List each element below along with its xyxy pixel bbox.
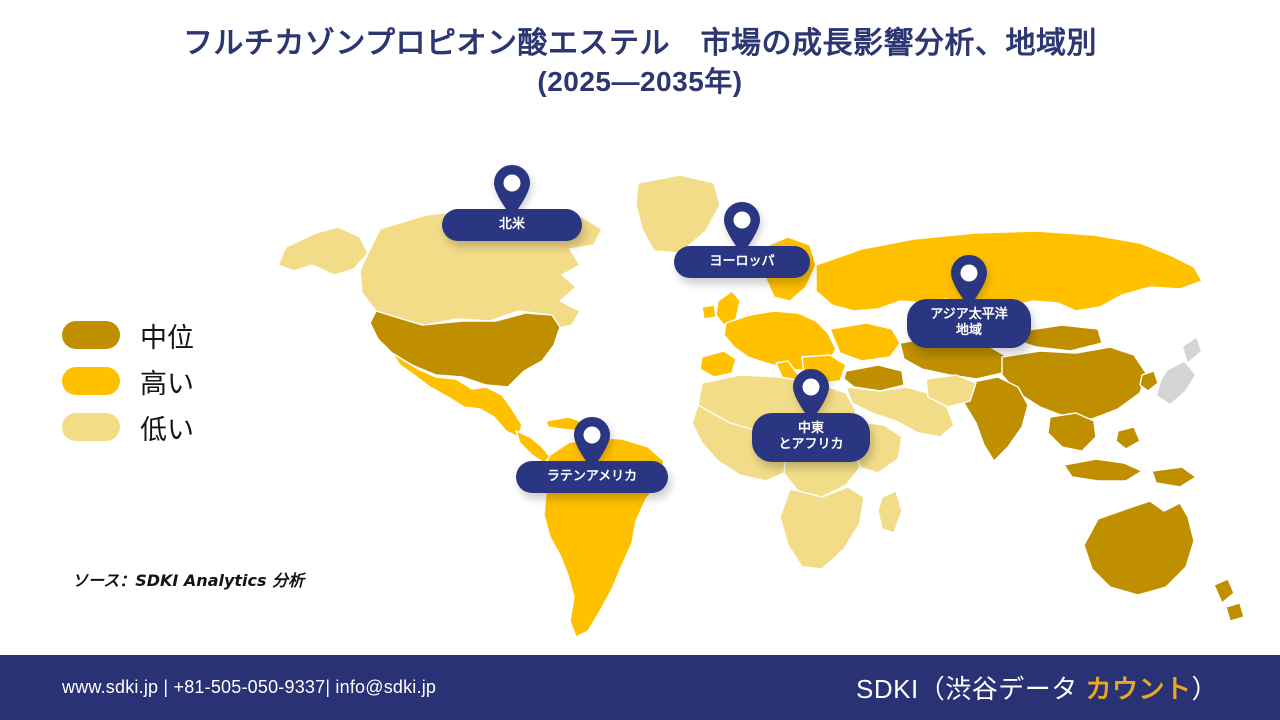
map-pin-asia-pacific[interactable]: アジア太平洋 地域: [907, 253, 1031, 348]
region-southeast-asia: [1048, 413, 1096, 451]
region-madagascar: [878, 491, 902, 533]
legend-label-medium: 中位: [140, 316, 194, 355]
map-pin-label: 北米: [442, 209, 582, 241]
legend-swatch-low: [62, 413, 120, 441]
map-pin-europe[interactable]: ヨーロッパ: [674, 200, 810, 278]
map-pin-label: ラテンアメリカ: [516, 461, 668, 493]
map-pin-label: ヨーロッパ: [674, 246, 810, 278]
title-line-2: (2025—2035年): [0, 64, 1280, 101]
map-legend: 中位 高い 低い: [62, 312, 292, 450]
map-pin-label: アジア太平洋 地域: [907, 299, 1031, 348]
region-philippines: [1116, 427, 1140, 449]
region-iberia: [700, 351, 736, 377]
region-indonesia: [1064, 459, 1142, 481]
region-eastern-europe: [830, 323, 900, 361]
legend-swatch-medium: [62, 321, 120, 349]
legend-swatch-high: [62, 367, 120, 395]
map-pin-middle-east-africa[interactable]: 中東 とアフリカ: [752, 367, 870, 462]
region-japan: [1158, 339, 1200, 403]
map-pin-label: 中東 とアフリカ: [752, 413, 870, 462]
map-pin-north-america[interactable]: 北米: [442, 163, 582, 241]
title-line-1: フルチカゾンプロピオン酸エステル 市場の成長影響分析、地域別: [0, 24, 1280, 64]
region-alaska: [278, 227, 368, 275]
region-united-states: [370, 311, 560, 387]
source-note: ソース：SDKI Analytics 分析: [72, 567, 304, 591]
region-ireland: [702, 305, 716, 319]
map-pin-latin-america[interactable]: ラテンアメリカ: [516, 415, 668, 493]
legend-item-low: 低い: [62, 404, 292, 450]
region-australia: [1084, 501, 1194, 595]
footer-brand: SDKI（渋谷データ カウント）: [856, 669, 1218, 706]
legend-item-high: 高い: [62, 358, 292, 404]
footer-contact[interactable]: www.sdki.jp | +81-505-050-9337| info@sdk…: [62, 677, 436, 698]
region-papua-new-guinea: [1152, 467, 1196, 487]
legend-label-low: 低い: [140, 408, 194, 447]
legend-item-medium: 中位: [62, 312, 292, 358]
slide-canvas: フルチカゾンプロピオン酸エステル 市場の成長影響分析、地域別 (2025—203…: [0, 0, 1280, 720]
region-southern-africa: [780, 487, 864, 569]
brand-prefix: SDKI（渋谷データ: [856, 674, 1085, 704]
brand-accent: カウント: [1085, 674, 1191, 704]
region-new-zealand: [1214, 579, 1244, 621]
footer-bar: www.sdki.jp | +81-505-050-9337| info@sdk…: [0, 655, 1280, 720]
brand-suffix: ）: [1191, 674, 1218, 704]
world-map: 北米 ヨーロッパ アジア太平洋 地域 中東 とアフリカ ラテンアメリカ: [250, 125, 1260, 645]
page-title: フルチカゾンプロピオン酸エステル 市場の成長影響分析、地域別 (2025—203…: [0, 24, 1280, 101]
legend-label-high: 高い: [140, 362, 194, 401]
